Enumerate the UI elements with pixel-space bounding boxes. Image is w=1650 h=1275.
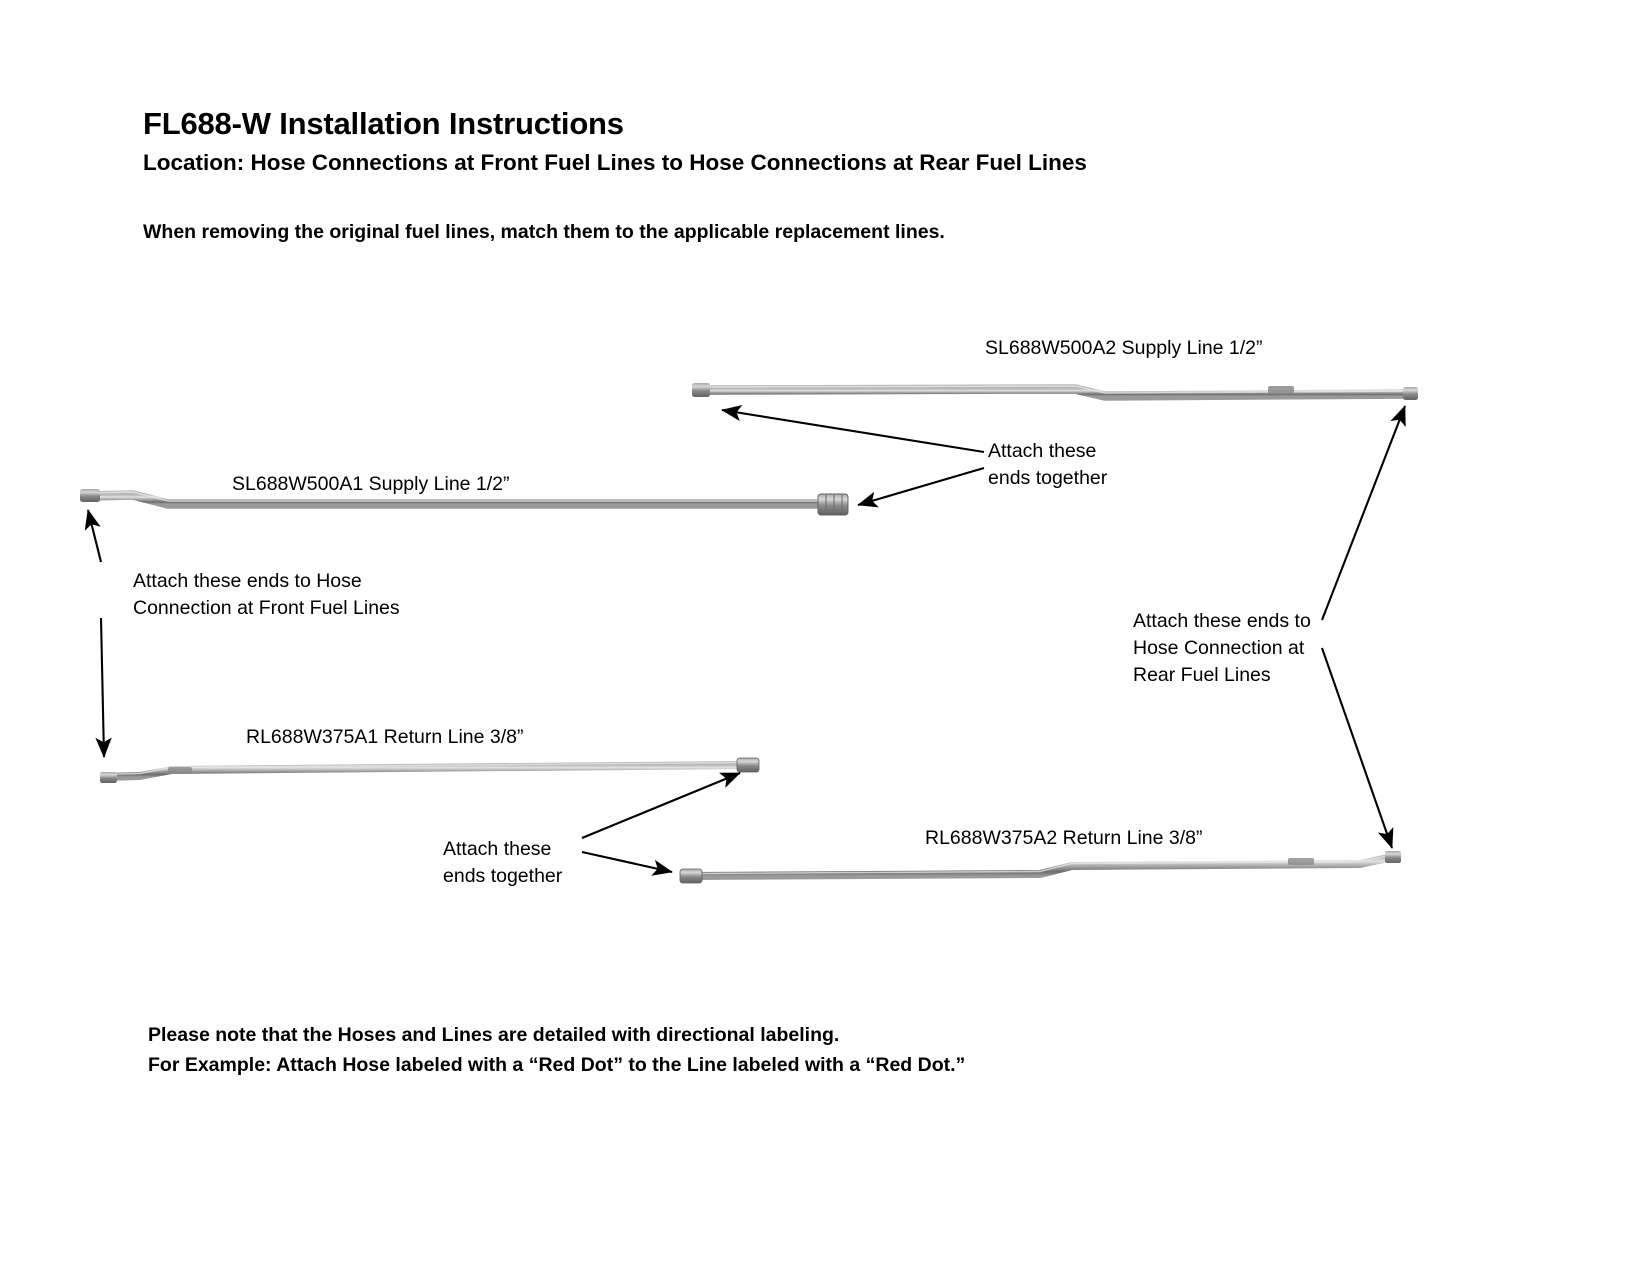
footer-note: Please note that the Hoses and Lines are… <box>148 1020 965 1080</box>
callout-line: Rear Fuel Lines <box>1133 662 1311 689</box>
arrow-attach-rear-fuel-lines <box>1322 406 1405 848</box>
intro-instruction-text: When removing the original fuel lines, m… <box>143 221 945 244</box>
page-title: FL688-W Installation Instructions <box>143 106 624 142</box>
page-subtitle: Location: Hose Connections at Front Fuel… <box>143 150 1087 176</box>
part-label-SL688W500A2: SL688W500A2 Supply Line 1/2” <box>985 337 1263 360</box>
part-label-RL688W375A2: RL688W375A2 Return Line 3/8” <box>925 827 1203 850</box>
part-label-RL688W375A1: RL688W375A1 Return Line 3/8” <box>246 726 524 749</box>
footer-note-line-1: Please note that the Hoses and Lines are… <box>148 1020 965 1050</box>
callout-line: Attach these <box>988 438 1107 465</box>
tube-RL688W375A1 <box>100 758 759 783</box>
callout-line: Attach these ends to <box>1133 608 1311 635</box>
tube-RL688W375A2 <box>680 851 1401 883</box>
fuel-line-diagram <box>0 0 1650 1275</box>
part-label-SL688W500A1: SL688W500A1 Supply Line 1/2” <box>232 473 510 496</box>
callout-line: Connection at Front Fuel Lines <box>133 595 400 622</box>
callout-attach-rear-fuel-lines: Attach these ends to Hose Connection at … <box>1133 608 1311 689</box>
callout-attach-ends-together-top: Attach these ends together <box>988 438 1107 492</box>
footer-note-line-2: For Example: Attach Hose labeled with a … <box>148 1050 965 1080</box>
arrow-attach-ends-together-top <box>722 410 984 505</box>
callout-line: Hose Connection at <box>1133 635 1311 662</box>
callout-attach-ends-together-bottom: Attach these ends together <box>443 836 562 890</box>
callout-attach-front-fuel-lines: Attach these ends to Hose Connection at … <box>133 568 400 622</box>
callout-line: Attach these ends to Hose <box>133 568 400 595</box>
arrow-attach-front-fuel-lines <box>88 510 104 757</box>
arrow-attach-ends-together-bottom <box>582 773 740 872</box>
callout-line: ends together <box>988 465 1107 492</box>
callout-line: Attach these <box>443 836 562 863</box>
tube-SL688W500A2 <box>692 383 1418 400</box>
callout-line: ends together <box>443 863 562 890</box>
installation-instructions-page: FL688-W Installation Instructions Locati… <box>0 0 1650 1275</box>
